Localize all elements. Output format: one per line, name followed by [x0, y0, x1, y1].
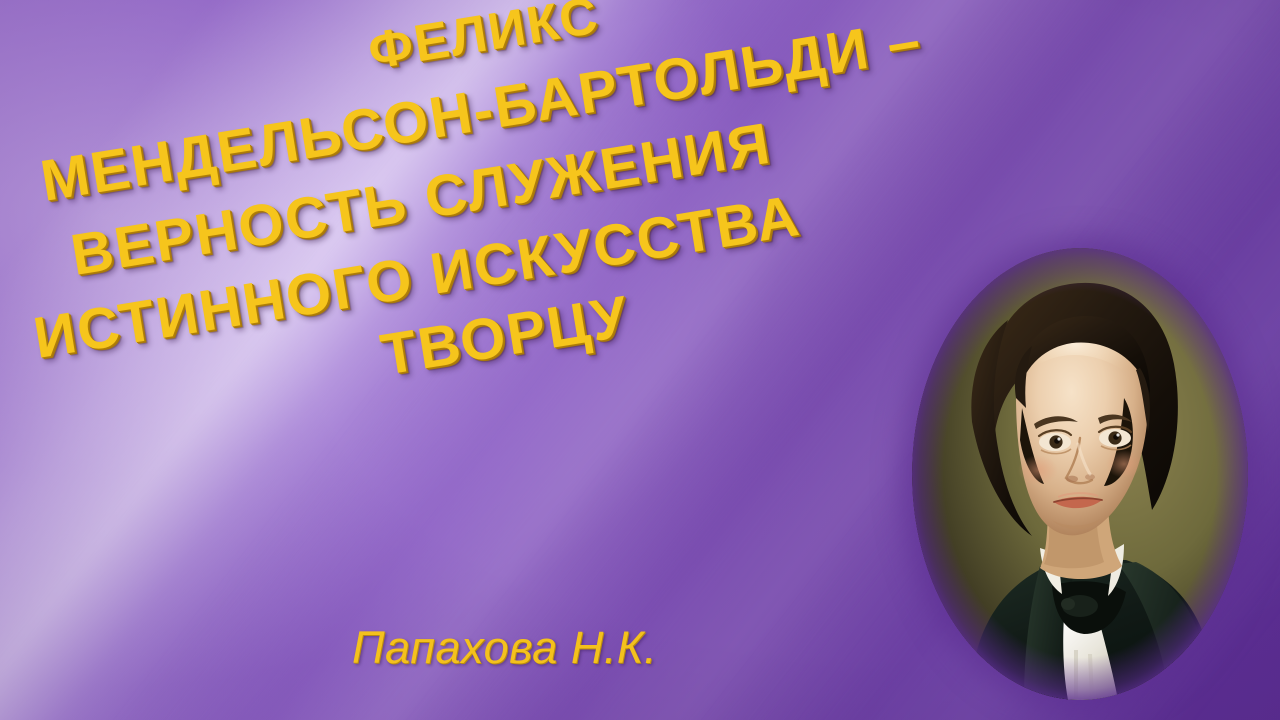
portrait-oval-frame	[912, 248, 1248, 700]
presentation-title-slide: ФЕЛИКС МЕНДЕЛЬСОН-БАРТОЛЬДИ – ВЕРНОСТЬ С…	[0, 0, 1280, 720]
author-name: Папахова Н.К.	[352, 622, 657, 674]
portrait-illustration	[912, 248, 1248, 700]
composer-portrait	[912, 248, 1248, 700]
